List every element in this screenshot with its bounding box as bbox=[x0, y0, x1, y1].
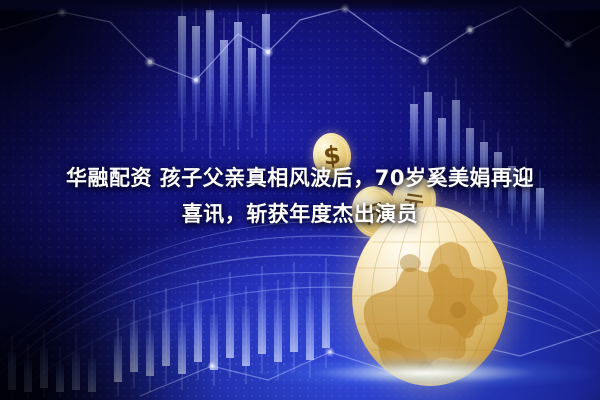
globe bbox=[352, 206, 508, 386]
headline-text: 华融配资 孩子父亲真相风波后，70岁奚美娟再迎 喜讯，斩获年度杰出演员 bbox=[0, 160, 600, 232]
news-thumbnail-image: $ 元 元 bbox=[0, 0, 600, 400]
headline-line-1: 华融配资 孩子父亲真相风波后，70岁奚美娟再迎 bbox=[12, 160, 588, 196]
globe-shading bbox=[352, 206, 508, 386]
horizontal-separator-band bbox=[0, 0, 600, 13]
headline-line-2: 喜讯，斩获年度杰出演员 bbox=[12, 196, 588, 232]
